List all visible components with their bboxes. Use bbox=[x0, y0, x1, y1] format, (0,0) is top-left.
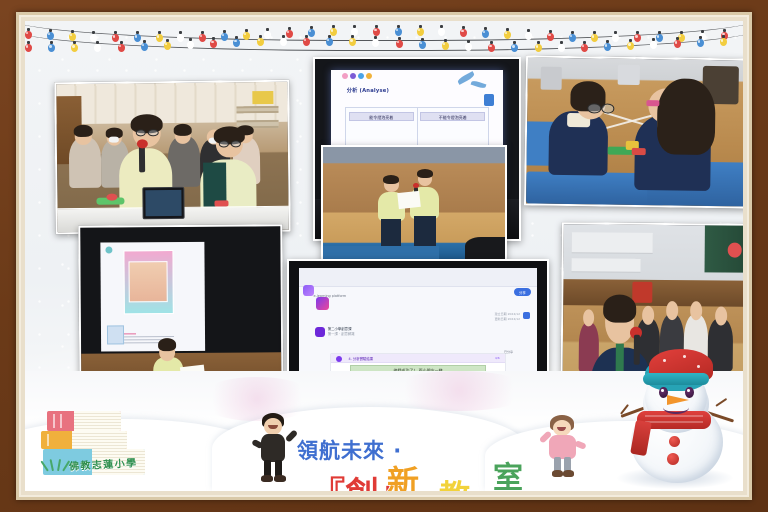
wall-equipment bbox=[632, 282, 652, 303]
kid-shoe bbox=[261, 475, 273, 482]
ceiling-beam bbox=[572, 258, 641, 271]
book-spine-line bbox=[47, 434, 49, 446]
app-cover-tile bbox=[316, 297, 329, 310]
plant-leaf bbox=[50, 459, 54, 471]
light-bulb bbox=[372, 39, 379, 47]
title-char-shi: 室 bbox=[493, 453, 523, 491]
snowman bbox=[611, 349, 739, 489]
foreground-silhouette bbox=[465, 237, 505, 259]
title-char-xin: 新 bbox=[387, 457, 419, 491]
audience-person bbox=[168, 136, 201, 187]
hat-snow-dot bbox=[683, 355, 686, 358]
browser-toolbar bbox=[299, 268, 536, 287]
gym-background bbox=[526, 57, 743, 206]
audience-hair bbox=[74, 125, 93, 137]
background-chair bbox=[541, 66, 561, 90]
app-title-row: 第二小學創意課 第一課 · 創意解難 bbox=[315, 327, 355, 337]
dot-chip-purple bbox=[350, 73, 356, 79]
light-bulb bbox=[627, 42, 634, 50]
kid-shoe bbox=[274, 475, 286, 482]
audience-head bbox=[642, 305, 654, 324]
hat-snow-dot bbox=[663, 359, 666, 362]
app-subtitle: 第一課 · 創意解難 bbox=[328, 332, 355, 337]
book-spine-line bbox=[53, 414, 55, 428]
photo-boys-stage: Two boys in yellow uniforms presenting f… bbox=[321, 145, 507, 261]
stage-mat bbox=[323, 246, 439, 259]
light-bulb bbox=[720, 38, 727, 46]
light-bulb bbox=[48, 44, 55, 52]
light-bulb bbox=[535, 44, 542, 52]
hall-background bbox=[56, 82, 289, 232]
meta-updated: 更新日期 2024/12 bbox=[495, 317, 520, 322]
hair-clip bbox=[646, 100, 660, 106]
wood-wall bbox=[563, 279, 743, 306]
light-bulb bbox=[280, 38, 287, 46]
light-bulb bbox=[581, 44, 588, 52]
light-bulb bbox=[697, 39, 704, 47]
step-bullet-icon bbox=[336, 356, 342, 362]
light-bulb bbox=[71, 44, 78, 52]
light-bulb bbox=[187, 41, 194, 49]
building-blocks bbox=[632, 148, 646, 155]
plant-decor bbox=[45, 455, 65, 471]
photo-students-mic: Two students speaking with a microphone … bbox=[54, 80, 291, 234]
student-left-trousers bbox=[381, 219, 401, 248]
photo-girls-blocks: Two girls in navy uniforms assembling bu… bbox=[524, 55, 743, 208]
student-right-hair bbox=[417, 169, 433, 178]
wall-sign bbox=[253, 91, 274, 105]
slide-col-header-2: 不能令燈泡亮着 bbox=[420, 112, 485, 121]
stage-background bbox=[323, 147, 505, 259]
light-bulb bbox=[604, 43, 611, 51]
script-paper bbox=[397, 191, 420, 209]
light-bulb bbox=[442, 42, 449, 50]
speaker-hair bbox=[603, 294, 636, 322]
tablet-device bbox=[143, 186, 185, 219]
book-pink bbox=[47, 411, 121, 431]
light-bulb bbox=[558, 44, 565, 52]
menu-icon[interactable] bbox=[523, 312, 530, 319]
stacked-books: 佛教志蓮小學 bbox=[41, 407, 153, 485]
desk-toy-blocks bbox=[106, 193, 118, 201]
light-bulb bbox=[465, 43, 472, 51]
poster-root: Two students speaking with a microphone … bbox=[0, 0, 768, 512]
audience-head bbox=[715, 306, 727, 325]
light-bulb bbox=[650, 41, 657, 49]
face-mask bbox=[109, 137, 119, 143]
light-bulb bbox=[488, 44, 495, 52]
audience-hair bbox=[173, 124, 192, 136]
light-bulb bbox=[233, 39, 240, 47]
microphone-head bbox=[137, 139, 148, 148]
hat-snow-dot bbox=[697, 365, 700, 368]
hanging-decor bbox=[727, 243, 741, 258]
background-chair bbox=[617, 65, 640, 86]
girl-right-hair bbox=[657, 78, 716, 155]
light-bulb bbox=[419, 41, 426, 49]
poster-title: 領航未來 · 『創』 新 教 室 bbox=[287, 435, 567, 491]
slide-book-icon bbox=[484, 94, 494, 106]
lesson-card-title: 4. 分析實驗結果 bbox=[349, 356, 374, 361]
light-bulb bbox=[164, 42, 171, 50]
snowman-hat-brim bbox=[643, 373, 709, 385]
app-badge-icon bbox=[315, 327, 325, 337]
scarf-stripe bbox=[645, 415, 703, 417]
slide-title: 分析 (Analyse) bbox=[347, 87, 389, 94]
scarf-stripe bbox=[645, 421, 703, 423]
snowman-button bbox=[669, 436, 680, 447]
wall-shelf bbox=[237, 106, 279, 114]
projection-screen bbox=[100, 242, 205, 352]
snowman-twig bbox=[715, 398, 727, 407]
plant-leaf bbox=[57, 459, 61, 471]
light-bulb bbox=[349, 38, 356, 46]
light-bulb-row-2 bbox=[25, 23, 743, 53]
kid-body bbox=[261, 434, 285, 462]
book-pages bbox=[74, 411, 121, 431]
lesson-card-page: 4/6 bbox=[495, 356, 500, 360]
light-bulb bbox=[25, 44, 32, 52]
snowman-button bbox=[667, 453, 679, 465]
title-char-jiao: 教 bbox=[439, 471, 470, 491]
app-logo-icon bbox=[303, 285, 314, 296]
app-title-block: 第二小學創意課 第一課 · 創意解難 bbox=[328, 327, 355, 337]
light-bulb bbox=[141, 43, 148, 51]
plant-leaf bbox=[40, 460, 48, 471]
dot-chip-blue bbox=[358, 73, 364, 79]
light-bulb bbox=[674, 40, 681, 48]
pink-haze-decor bbox=[384, 371, 534, 411]
lesson-card-header: 4. 分析實驗結果 4/6 bbox=[331, 354, 505, 363]
light-bulb bbox=[396, 40, 403, 48]
light-bulb bbox=[303, 38, 310, 46]
app-title: 第二小學創意課 bbox=[328, 327, 355, 332]
student-right-trousers bbox=[414, 216, 436, 247]
poster-canvas: Two students speaking with a microphone … bbox=[25, 21, 743, 491]
book-spine-line bbox=[60, 414, 62, 428]
dot-chip-pink bbox=[342, 73, 348, 79]
light-bulb bbox=[94, 44, 101, 52]
glasses-icon bbox=[601, 104, 615, 114]
book-pages bbox=[72, 431, 127, 449]
light-bulb bbox=[257, 38, 264, 46]
presenter-hair bbox=[158, 338, 176, 351]
poster-inner-frame: Two students speaking with a microphone … bbox=[16, 12, 752, 500]
slide-logo-icon bbox=[106, 247, 113, 254]
slide-thumb bbox=[107, 325, 124, 345]
microphone-body bbox=[139, 145, 145, 172]
dot-chip-orange bbox=[366, 73, 372, 79]
light-bulb bbox=[118, 44, 125, 52]
share-button[interactable]: 分享 bbox=[514, 288, 531, 296]
light-bulb bbox=[210, 40, 217, 48]
slide-dot-chips bbox=[342, 73, 372, 79]
ceiling-beam bbox=[572, 233, 653, 253]
app-meta: 建立日期 2024/12 更新日期 2024/12 bbox=[495, 312, 520, 322]
slide-col-header-1: 能令燈泡亮着 bbox=[349, 112, 414, 121]
slide-photo-card bbox=[123, 250, 173, 314]
audience-person bbox=[68, 137, 101, 188]
book-yellow bbox=[41, 431, 127, 449]
string-lights bbox=[25, 23, 743, 53]
light-bulb bbox=[326, 38, 333, 46]
slide-leaf-decor bbox=[470, 80, 486, 89]
light-bulb bbox=[511, 44, 518, 52]
snowman-mouth bbox=[663, 401, 689, 414]
student-left-hair bbox=[383, 175, 399, 184]
desk-toy-blocks bbox=[215, 201, 229, 207]
